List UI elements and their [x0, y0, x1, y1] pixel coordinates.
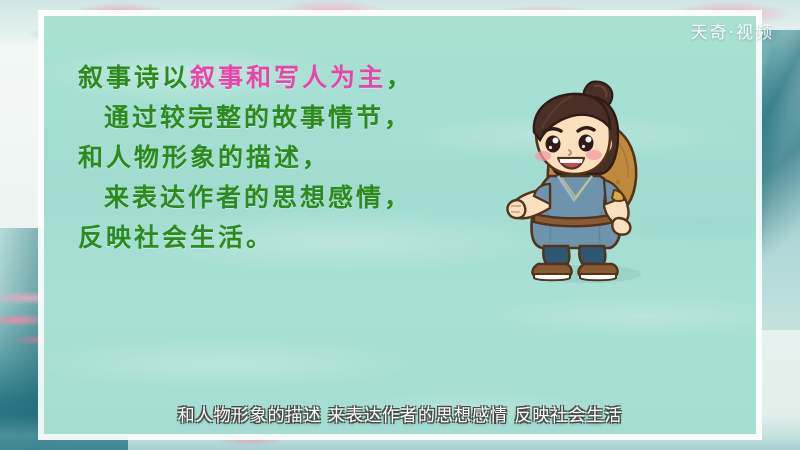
poem-line-1: 叙事诗以叙事和写人为主， [78, 58, 478, 98]
poem-line-3: 和人物形象的描述， [78, 138, 478, 178]
poem-line-1-green: 叙事诗以 [78, 63, 190, 92]
cartoon-boy-illustration [506, 78, 676, 286]
poem-line-2: 通过较完整的故事情节， [78, 98, 478, 138]
video-subtitle: 和人物形象的描述 来表达作者的思想感情 反映社会生活 [0, 401, 800, 426]
poem-line-1-highlight: 叙事和写人为主 [190, 63, 386, 92]
poem-line-5: 反映社会生活。 [78, 218, 478, 258]
poem-line-4: 来表达作者的思想感情， [78, 178, 478, 218]
poem-text-block: 叙事诗以叙事和写人为主， 通过较完整的故事情节， 和人物形象的描述， 来表达作者… [78, 58, 478, 258]
video-frame: 叙事诗以叙事和写人为主， 通过较完整的故事情节， 和人物形象的描述， 来表达作者… [0, 0, 800, 450]
poem-line-1-tail: ， [386, 63, 414, 92]
channel-watermark: 天奇·视频 [691, 18, 774, 43]
